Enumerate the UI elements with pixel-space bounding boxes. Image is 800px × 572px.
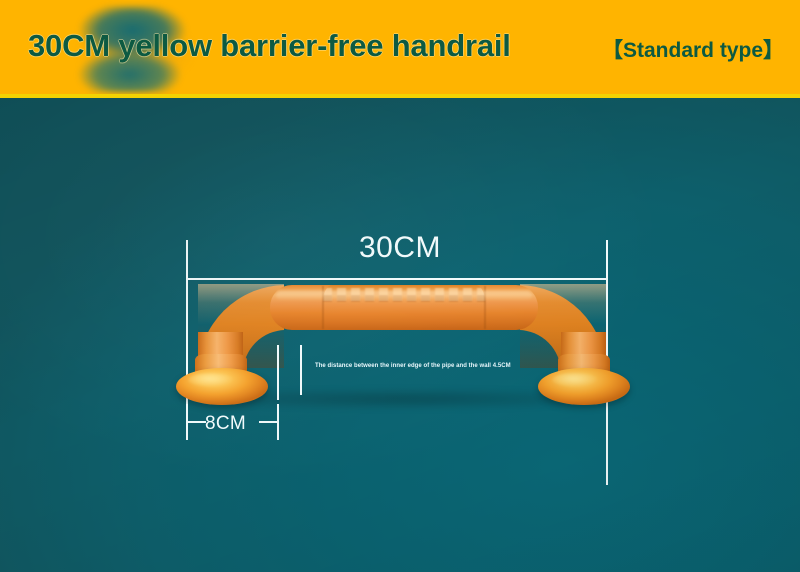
dimension-label-30cm: 30CM (0, 231, 800, 265)
mount-flange-right-highlight (552, 373, 598, 387)
banner-type-tag: 【Standard type】 (602, 34, 784, 64)
banner-title: 30CM yellow barrier-free handrail (28, 28, 511, 64)
product-image: 30CM yellow barrier-free handrail 【Stand… (0, 0, 800, 572)
handrail-product (196, 284, 608, 394)
product-photo-area: 30CM (0, 98, 800, 572)
dimension-tick-right-8cm (277, 345, 279, 400)
leader-line-wall-clearance (300, 345, 302, 395)
dimension-line-8cm-right (259, 421, 279, 423)
header-banner: 30CM yellow barrier-free handrail 【Stand… (0, 0, 800, 98)
mount-flange-left-highlight (188, 373, 234, 387)
wall-clearance-note: The distance between the inner edge of t… (315, 363, 511, 369)
handrail-highlight (276, 291, 532, 300)
dimension-line-30cm (186, 278, 608, 280)
dimension-line-8cm-left (186, 421, 206, 423)
dimension-label-8cm: 8CM (205, 413, 246, 435)
